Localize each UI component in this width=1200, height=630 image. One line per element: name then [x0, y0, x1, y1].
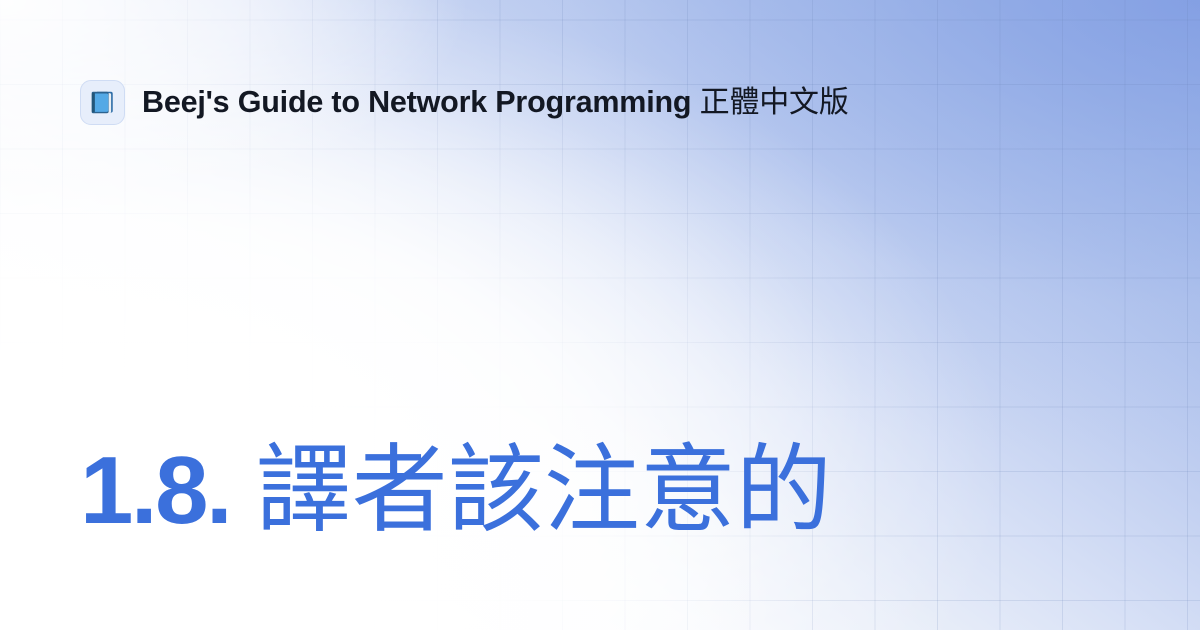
site-title-latin: Beej's Guide to Network Programming: [142, 85, 691, 119]
social-share-card: Beej's Guide to Network Programming 正體中文…: [0, 0, 1200, 630]
site-header: Beej's Guide to Network Programming 正體中文…: [80, 80, 849, 125]
blue-book-icon: [80, 80, 125, 125]
page-title: 1.8. 譯者該注意的: [80, 437, 832, 545]
site-title: Beej's Guide to Network Programming 正體中文…: [142, 87, 849, 118]
section-number: 1.8.: [80, 437, 230, 544]
section-title-text: 譯者該注意的: [256, 434, 832, 546]
site-title-cjk: 正體中文版: [700, 85, 849, 120]
